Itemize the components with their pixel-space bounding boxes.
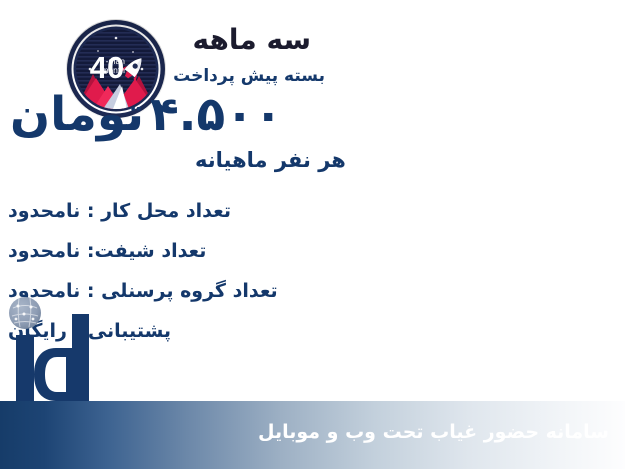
price-amount-row: ۴.۵۰۰تومان <box>2 91 622 138</box>
id-brand-logo <box>4 292 100 404</box>
id-brand-logo-icon <box>4 292 100 404</box>
logo-dot-icon <box>9 297 41 329</box>
feature-item: تعداد شیفت: نامحدود <box>8 242 625 261</box>
footer-tagline: سامانه حضور غیاب تحت وب و موبایل <box>258 423 609 442</box>
feature-item: تعداد محل کار : نامحدود <box>8 202 625 221</box>
package-title: سه ماهه <box>192 26 311 54</box>
price-currency: تومان <box>10 87 144 142</box>
package-subtitle: بسته پیش پرداخت <box>173 68 325 85</box>
feature-list: تعداد محل کار : نامحدود تعداد شیفت: نامح… <box>8 202 625 362</box>
price-per-unit: هر نفر ماهیانه <box>195 150 625 171</box>
pricing-card: 40 man- month سه ماهه بسته پیش پرداخت ۴.… <box>0 0 625 469</box>
footer-bar: سامانه حضور غیاب تحت وب و موبایل <box>0 401 625 469</box>
price-amount: ۴.۵۰۰ <box>150 87 283 142</box>
feature-item: پشتیبانی : رایگان <box>8 322 625 341</box>
feature-item: تعداد گروه پرسنلی : نامحدود <box>8 282 625 301</box>
